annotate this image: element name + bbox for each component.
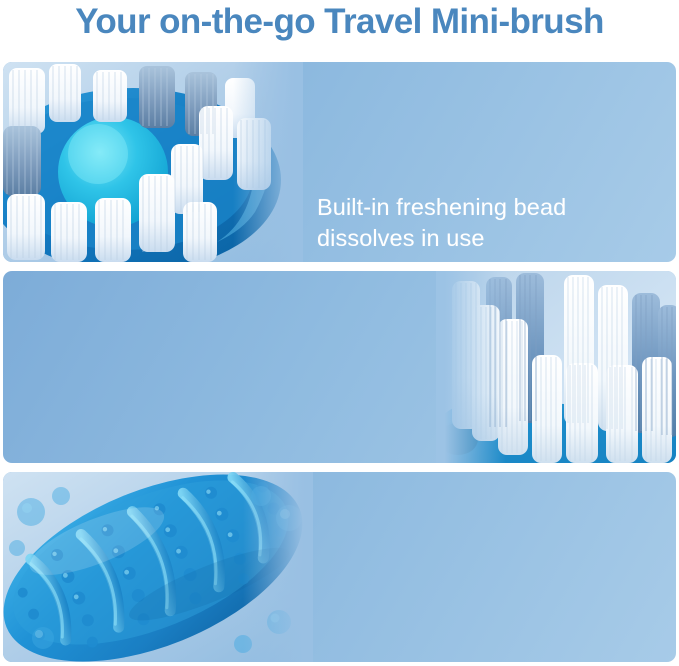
toothbrush-head-with-freshening-bead-image [3, 62, 303, 262]
feature-panel-medium-bristles: Medium bristles for superior cleaning [3, 271, 676, 463]
panel-caption-freshening-bead: Built-in freshening bead dissolves in us… [317, 192, 566, 254]
feature-panel-freshening-bead: Built-in freshening bead dissolves in us… [3, 62, 676, 262]
page-title: Your on-the-go Travel Mini-brush [0, 2, 679, 42]
feature-panel-tongue-cheek-cleaner: Quadruple Tongue & Cheek Cleaner, remove… [3, 472, 676, 662]
medium-bristles-closeup-image [436, 271, 676, 463]
tongue-cheek-cleaner-closeup-image [3, 472, 313, 662]
